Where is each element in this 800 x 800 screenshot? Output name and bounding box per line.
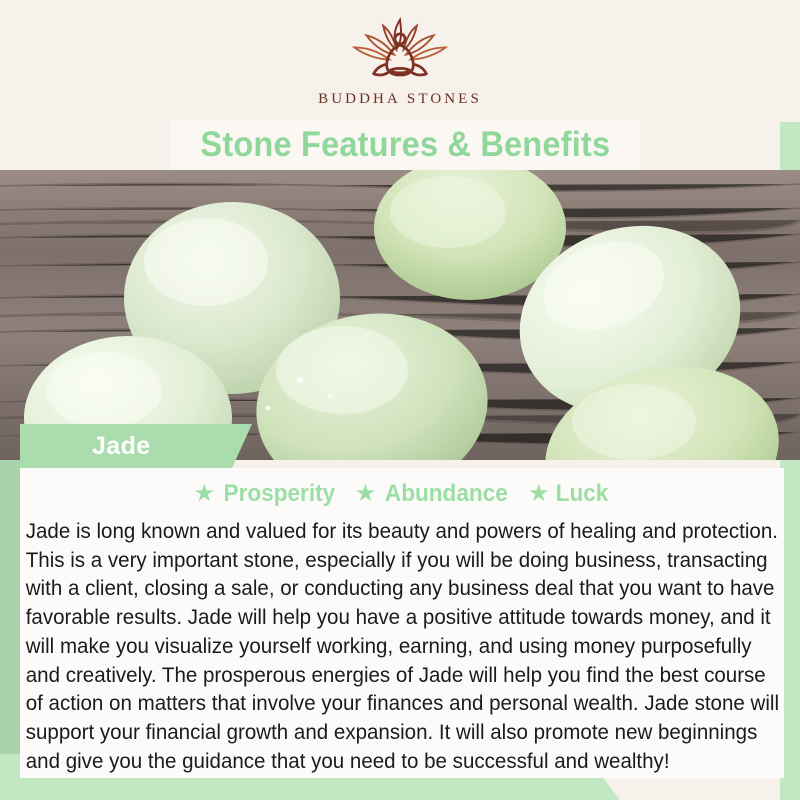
benefit-label: Prosperity — [224, 480, 336, 508]
benefit-item: ★ Luck — [528, 480, 611, 508]
benefit-item: ★ Prosperity — [194, 480, 339, 508]
lotus-meditation-icon — [346, 15, 454, 87]
stone-name-banner: Jade — [20, 424, 252, 468]
benefits-row: ★ Prosperity ★ Abundance ★ Luck — [20, 468, 784, 514]
brand-header: BUDDHA STONES — [0, 0, 800, 122]
poster-root: BUDDHA STONES Stone Features & Benefits — [0, 0, 800, 800]
title-band: Stone Features & Benefits — [170, 120, 640, 170]
stone-photo — [0, 170, 800, 460]
benefit-label: Luck — [556, 480, 609, 508]
star-icon: ★ — [194, 482, 216, 506]
star-icon: ★ — [355, 482, 377, 506]
benefit-label: Abundance — [385, 480, 508, 508]
brand-name: BUDDHA STONES — [318, 91, 482, 108]
content-panel: ★ Prosperity ★ Abundance ★ Luck Jade is … — [20, 468, 784, 778]
stone-name: Jade — [92, 432, 151, 461]
benefit-item: ★ Abundance — [355, 480, 512, 508]
stone-description: Jade is long known and valued for its be… — [20, 514, 791, 775]
star-icon: ★ — [528, 482, 550, 506]
page-title: Stone Features & Benefits — [200, 125, 610, 165]
